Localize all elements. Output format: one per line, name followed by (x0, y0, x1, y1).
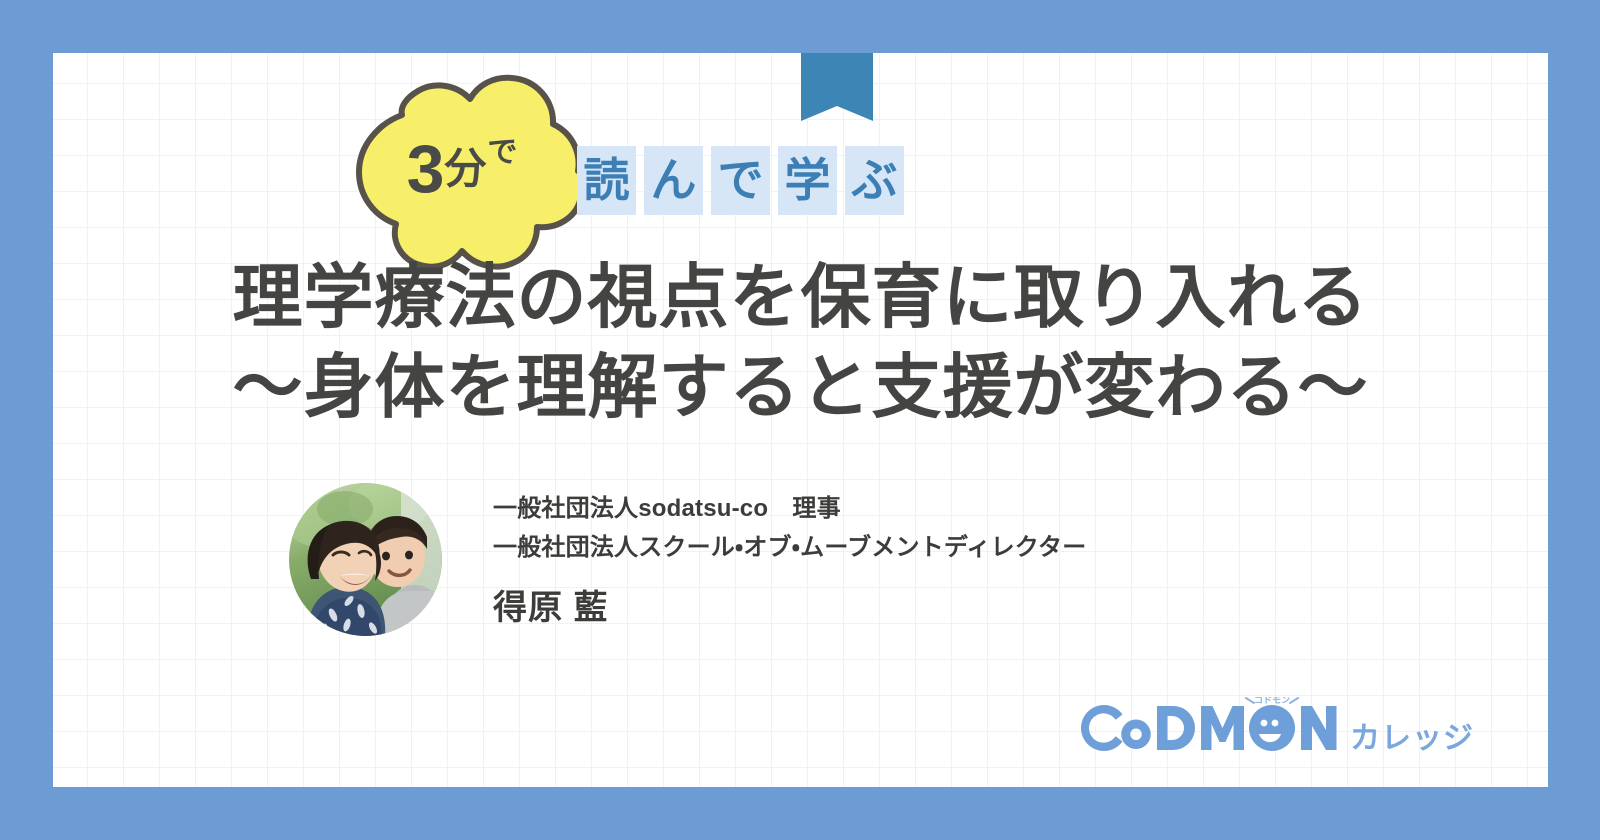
eyebrow-char-5: ぶ (845, 146, 904, 215)
codmon-wordmark (1081, 705, 1337, 751)
codmon-college-logo: コドモン カレッジ (1074, 697, 1474, 759)
avatar-photo (289, 483, 442, 636)
seminar-title-slide: 3 分 で 読 ん で 学 ぶ 理学療法の視点を保育に取り入れる 〜身体を理解す… (0, 0, 1600, 840)
speaker-affiliation-2: 一般社団法人スクール・オブ・ムーブメントディレクター (493, 529, 1086, 568)
speaker-affiliation-1: 一般社団法人sodatsu-co 理事 (493, 490, 1086, 529)
speaker-block: 一般社団法人sodatsu-co 理事 一般社団法人スクール・オブ・ムーブメント… (289, 483, 1086, 636)
eyebrow-char-4: 学 (778, 146, 837, 215)
eyebrow-char-1: 読 (577, 146, 636, 215)
slide-card: 3 分 で 読 ん で 学 ぶ 理学療法の視点を保育に取り入れる 〜身体を理解す… (53, 53, 1548, 787)
speaker-details: 一般社団法人sodatsu-co 理事 一般社団法人スクール・オブ・ムーブメント… (493, 490, 1086, 630)
avatar (289, 483, 442, 636)
bookmark-ribbon-icon (801, 53, 873, 121)
title-line-1: 理学療法の視点を保育に取り入れる (233, 258, 1369, 336)
duration-badge-text: 3 分 で (338, 66, 586, 271)
college-label: カレッジ (1350, 713, 1474, 757)
eyebrow-char-2: ん (644, 146, 703, 215)
eyebrow-char-3: で (711, 146, 770, 215)
duration-unit: 分 (444, 148, 486, 190)
speaker-name: 得原 藍 (493, 580, 1086, 629)
codmon-furigana: コドモン (1246, 697, 1298, 705)
page-title: 理学療法の視点を保育に取り入れる 〜身体を理解すると支援が変わる〜 (53, 253, 1548, 432)
svg-text:コドモン: コドモン (1254, 697, 1290, 705)
title-line-2: 〜身体を理解すると支援が変わる〜 (53, 343, 1548, 433)
eyebrow-label: 読 ん で 学 ぶ (577, 146, 904, 215)
duration-minutes: 3 (407, 135, 444, 203)
duration-particle: で (487, 138, 517, 168)
